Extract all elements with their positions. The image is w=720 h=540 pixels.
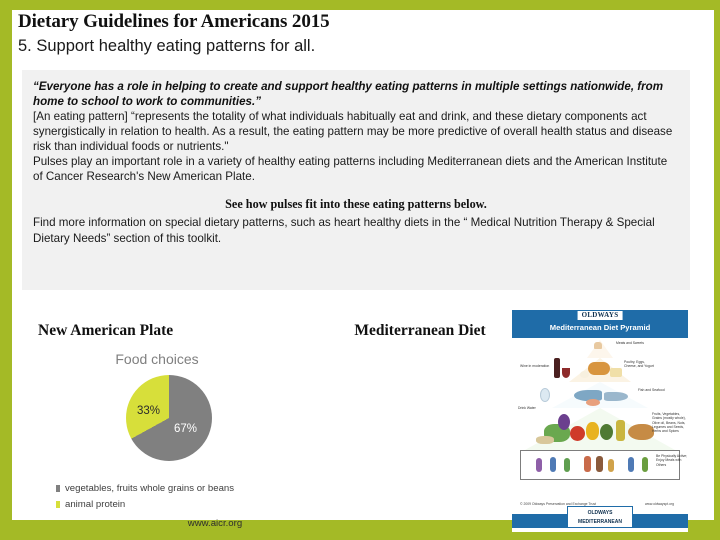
oldways-logo: OLDWAYS [578,311,623,320]
pie-slice-label-animal-protein: 33% [137,405,160,417]
panel-paragraph-1: [An eating pattern] “represents the tota… [33,109,679,154]
pyramid-tier-label-poultry: Poultry, Eggs, Cheese, and Yogurt [624,360,658,369]
food-icon-sweets [594,342,602,349]
food-icon-pepper [586,422,599,440]
food-icon-poultry [588,362,610,375]
food-icon-eggplant [558,414,570,430]
page-subtitle: 5. Support healthy eating patterns for a… [18,36,678,57]
pie-chart-legend: vegetables, fruits whole grains or beans… [56,484,376,515]
pyramid-tier-label-plant-foods: Fruits, Vegetables, Grains (mostly whole… [652,412,686,433]
person-icon-2 [550,457,556,472]
mediterranean-diet-pyramid-image: OLDWAYS Mediterranean Diet Pyramid Meats… [512,310,688,532]
bottom-logo-line-1: OLDWAYS [568,510,632,516]
food-icon-eggs [580,371,589,378]
legend-swatch-animal-protein [56,501,60,508]
pyramid-tier-label-activity: Be Physically Active; Enjoy Meals with O… [656,454,688,467]
mediterranean-diet-title: Mediterranean Diet [330,322,510,340]
pyramid-side-label-water: Drink Water [518,406,552,410]
new-american-plate-title: New American Plate [34,322,324,340]
water-glass-icon [540,388,550,402]
pyramid-tier-label-meats-sweets: Meats and Sweets [616,341,650,345]
chart-title: Food choices [34,351,324,367]
person-icon-5 [596,456,603,472]
pyramid-body: Meats and Sweets Poultry, Eggs, Cheese, … [512,338,688,508]
food-icon-fish-2 [604,392,628,401]
legend-item: animal protein [56,500,376,510]
person-icon-1 [536,458,542,472]
legend-label-animal-protein: animal protein [65,500,125,510]
food-icon-tomato [570,426,585,441]
panel-callout: See how pulses fit into these eating pat… [33,197,679,212]
legend-swatch-vegetables [56,485,60,492]
content-panel: “Everyone has a role in helping to creat… [22,70,690,290]
panel-quote: “Everyone has a role in helping to creat… [33,79,679,109]
pyramid-side-label-wine: Wine in moderation [520,364,554,368]
food-icon-grains [536,436,554,444]
new-american-plate-section: New American Plate Food choices 33% 67% [34,322,324,473]
legend-item: vegetables, fruits whole grains or beans [56,484,376,494]
slide-header: Dietary Guidelines for Americans 2015 5.… [18,10,678,57]
food-icon-cheese [610,368,622,377]
panel-paragraph-3: Find more information on special dietary… [33,215,679,245]
slide: Dietary Guidelines for Americans 2015 5.… [0,0,720,540]
legend-label-vegetables: vegetables, fruits whole grains or beans [65,484,234,494]
food-icon-olive-oil [616,420,625,441]
pie-chart: 33% 67% [34,375,324,473]
person-icon-4 [584,456,591,472]
panel-paragraph-2: Pulses play an important role in a varie… [33,154,679,184]
pyramid-tier-label-fish: Fish and Seafood [638,388,672,392]
pyramid-banner-text: Mediterranean Diet Pyramid [512,323,688,332]
person-icon-6 [608,459,614,472]
person-icon-7 [628,457,634,472]
page-title: Dietary Guidelines for Americans 2015 [18,10,678,34]
person-icon-8 [642,457,648,472]
food-icon-shrimp [586,399,600,406]
food-icon-avocado [600,424,613,440]
footer-url: www.aicr.org [0,518,720,529]
pie-chart-graphic [126,375,212,461]
food-icon-bread [628,424,654,440]
wine-bottle-icon [554,358,560,378]
pie-slice-label-vegetables: 67% [174,423,197,435]
wine-glass-icon [562,368,570,378]
pyramid-url: www.oldwayspt.org [645,502,674,506]
person-icon-3 [564,458,570,472]
